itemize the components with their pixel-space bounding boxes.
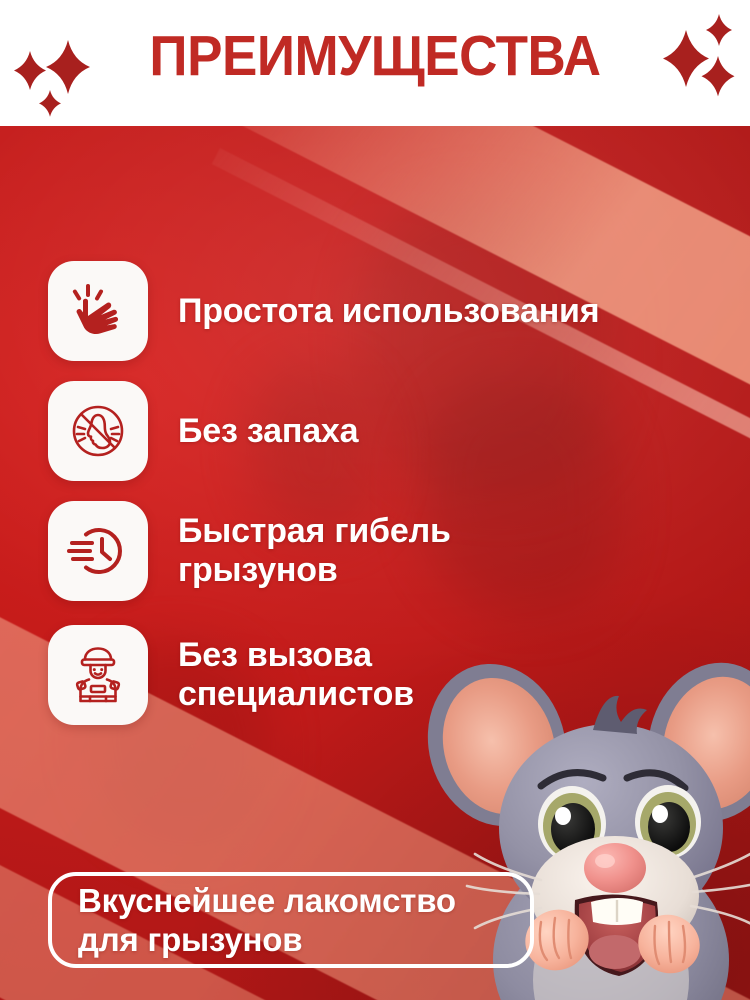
worker-specialist-icon xyxy=(48,625,148,725)
advantages-poster: Простота использования xyxy=(0,0,750,1000)
feature-item-fast-death: Быстрая гибель грызунов xyxy=(48,501,451,601)
sparkle-decoration-right xyxy=(660,6,750,110)
feature-item-no-specialist: Без вызова специалистов xyxy=(48,625,414,725)
features-list: Простота использования xyxy=(0,0,750,1000)
feature-item-no-smell: Без запаха xyxy=(48,381,358,481)
sparkle-icon xyxy=(46,40,90,94)
sparkle-icon xyxy=(706,14,732,46)
bottom-banner: Вкуснейшее лакомство для грызунов xyxy=(48,872,534,968)
feature-label: Без запаха xyxy=(178,412,358,451)
sparkle-icon xyxy=(39,90,61,117)
sparkle-icon xyxy=(702,56,735,96)
banner-text: Вкуснейшее лакомство для грызунов xyxy=(52,881,456,959)
hand-tap-icon xyxy=(48,261,148,361)
feature-label: Быстрая гибель грызунов xyxy=(178,512,451,590)
feature-label: Простота использования xyxy=(178,292,599,331)
sparkle-decoration-left xyxy=(6,18,118,118)
feature-label: Без вызова специалистов xyxy=(178,636,414,714)
page-title: ПРЕИМУЩЕСТВА xyxy=(26,22,724,90)
sparkle-icon xyxy=(14,51,46,90)
feature-item-ease-of-use: Простота использования xyxy=(48,261,599,361)
fast-clock-icon xyxy=(48,501,148,601)
no-smell-nose-icon xyxy=(48,381,148,481)
sparkle-icon xyxy=(663,30,709,87)
